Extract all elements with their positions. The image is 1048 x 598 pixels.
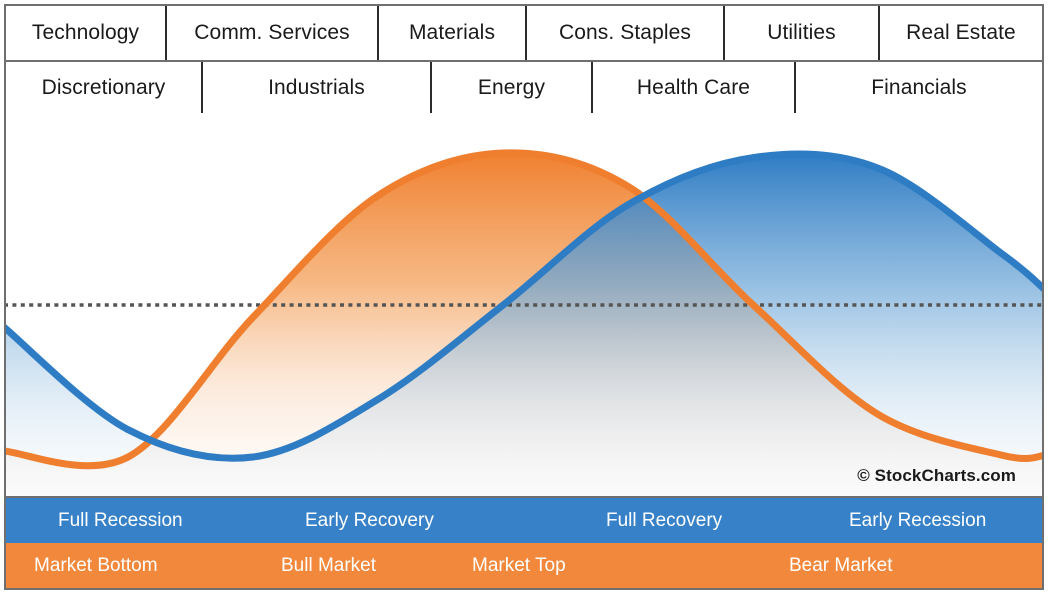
- phase-label-full-recovery: Full Recovery: [606, 510, 722, 532]
- market-cycle-bar: Market BottomBull MarketMarket TopBear M…: [4, 543, 1044, 590]
- phase-label-early-recession: Early Recession: [849, 510, 986, 532]
- sector-cell-industrials: Industrials: [203, 62, 432, 113]
- phase-label-bear-market: Bear Market: [789, 555, 892, 577]
- sector-cell-materials: Materials: [379, 6, 527, 60]
- sector-cell-label: Industrials: [268, 76, 365, 100]
- sector-cell-technology: Technology: [6, 6, 167, 60]
- sector-cell-label: Energy: [478, 76, 545, 100]
- sector-cell-label: Real Estate: [906, 21, 1016, 45]
- sector-cell-financials: Financials: [796, 62, 1042, 113]
- economic-cycle-bar: Full RecessionEarly RecoveryFull Recover…: [4, 498, 1044, 543]
- phase-label-market-top: Market Top: [472, 555, 566, 577]
- sector-cell-utilities: Utilities: [725, 6, 880, 60]
- sector-cell-label: Comm. Services: [194, 21, 349, 45]
- sector-cell-energy: Energy: [432, 62, 593, 113]
- sector-cell-health-care: Health Care: [593, 62, 796, 113]
- sector-cell-real-estate: Real Estate: [880, 6, 1042, 60]
- sector-cell-label: Cons. Staples: [559, 21, 691, 45]
- sector-leaders-row-1: TechnologyComm. ServicesMaterialsCons. S…: [4, 4, 1044, 62]
- sector-rotation-model: TechnologyComm. ServicesMaterialsCons. S…: [0, 0, 1048, 598]
- cycle-curves-plot: © StockCharts.com: [4, 113, 1044, 498]
- sector-cell-discretionary: Discretionary: [6, 62, 203, 113]
- sector-leadership-table: TechnologyComm. ServicesMaterialsCons. S…: [4, 4, 1044, 115]
- sector-cell-cons-staples: Cons. Staples: [527, 6, 725, 60]
- sector-cell-label: Financials: [871, 76, 967, 100]
- sector-cell-label: Discretionary: [42, 76, 166, 100]
- sector-cell-label: Utilities: [767, 21, 836, 45]
- phase-label-market-bottom: Market Bottom: [34, 555, 158, 577]
- sector-cell-comm-services: Comm. Services: [167, 6, 379, 60]
- phase-label-early-recovery: Early Recovery: [305, 510, 434, 532]
- sector-leaders-row-2: DiscretionaryIndustrialsEnergyHealth Car…: [4, 62, 1044, 115]
- cycle-phase-bars: Full RecessionEarly RecoveryFull Recover…: [4, 498, 1044, 590]
- stockcharts-watermark: © StockCharts.com: [857, 466, 1016, 486]
- sector-cell-label: Health Care: [637, 76, 750, 100]
- sector-cell-label: Materials: [409, 21, 495, 45]
- sector-cell-label: Technology: [32, 21, 139, 45]
- cycle-curves-svg: [6, 113, 1042, 496]
- phase-label-full-recession: Full Recession: [58, 510, 183, 532]
- phase-label-bull-market: Bull Market: [281, 555, 376, 577]
